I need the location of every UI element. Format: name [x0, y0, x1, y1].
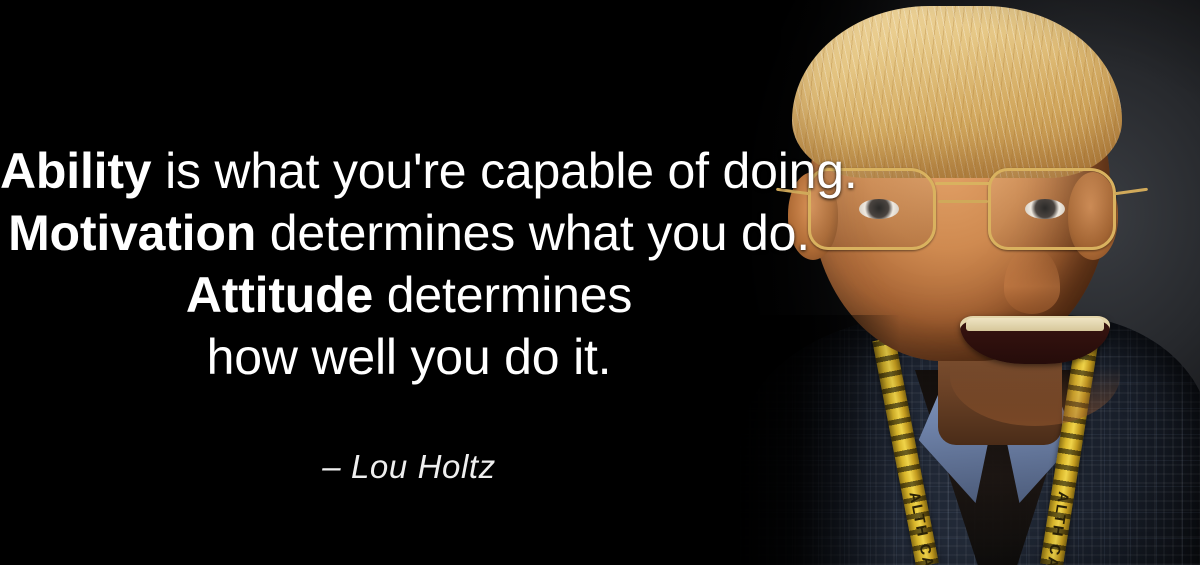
quote-line-3: Attitude determines [0, 264, 818, 326]
quote-line-2: Motivation determines what you do. [0, 202, 818, 264]
quote-line-1: Ability is what you're capable of doing. [0, 140, 818, 202]
quote-text-block: Ability is what you're capable of doing.… [0, 140, 818, 388]
quote-keyword-ability: Ability [0, 143, 151, 199]
quote-keyword-attitude: Attitude [186, 267, 373, 323]
quote-line-1-rest: is what you're capable of doing. [151, 143, 857, 199]
quote-line-2-rest: determines what you do. [256, 205, 810, 261]
glasses-bridge-upper [935, 182, 991, 185]
lens-right [988, 168, 1116, 250]
glasses-temple-right [1114, 188, 1148, 196]
quote-line-4-rest: how well you do it. [207, 329, 612, 385]
eye-right [1025, 199, 1065, 219]
teeth [966, 318, 1104, 331]
quote-line-4: how well you do it. [0, 326, 818, 388]
quote-attribution: – Lou Holtz [0, 448, 818, 486]
quote-keyword-motivation: Motivation [8, 205, 256, 261]
eye-left [859, 199, 899, 219]
quote-image-card: ALTH CAR ALTH CAR [0, 0, 1200, 565]
quote-line-3-rest: determines [373, 267, 632, 323]
glasses-bridge-lower [938, 200, 988, 203]
